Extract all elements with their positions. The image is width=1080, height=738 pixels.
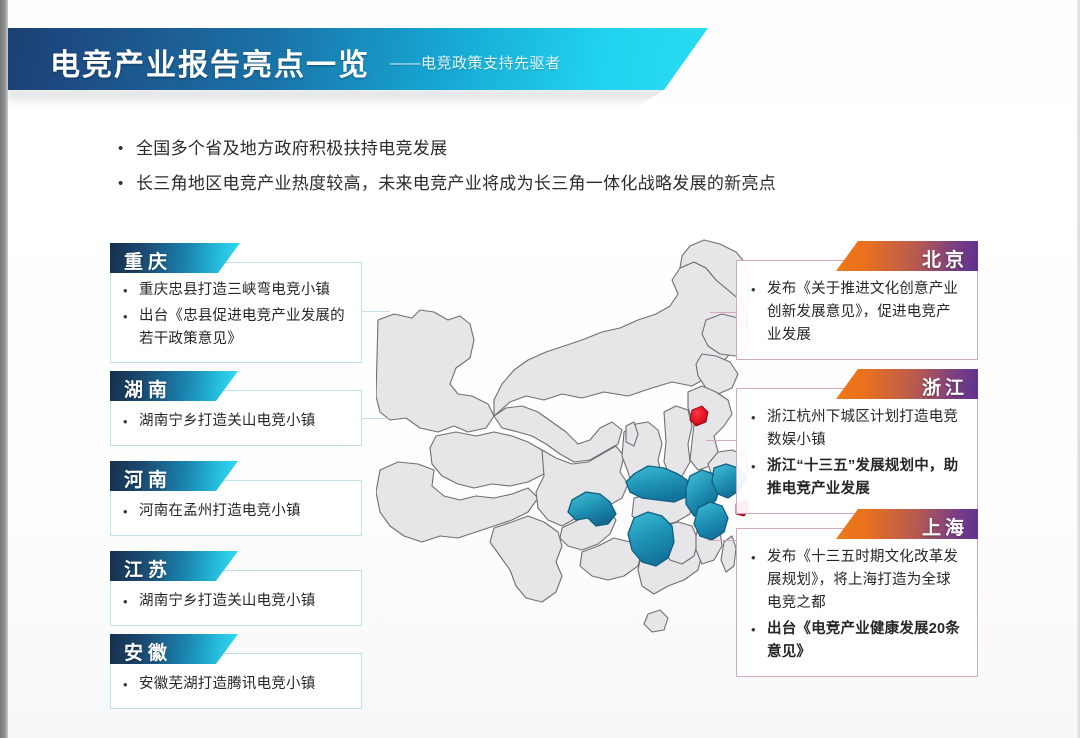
bullet-marker: • — [123, 500, 139, 523]
card-header-zhejiang: 浙江 — [836, 369, 978, 399]
list-item: • 湖南宁乡打造关山电竞小镇 — [123, 410, 351, 433]
card-header-anhui: 安徽 — [110, 634, 238, 664]
card-header-chongqing: 重庆 — [110, 243, 240, 273]
china-map — [376, 236, 748, 686]
list-item-label: 河南在孟州打造电竞小镇 — [139, 500, 301, 523]
list-item-label: 出台《电竞产业健康发展20条意见》 — [767, 618, 965, 664]
page-subtitle: ——电竞政策支持先驱者 — [390, 52, 561, 73]
highlight-province-zhejiang — [694, 502, 728, 540]
card-title-label: 上海 — [922, 513, 968, 540]
card-header-hunan: 湖南 — [110, 371, 238, 401]
card-item-list: • 浙江杭州下城区计划打造电竞数娱小镇 • 浙江“十三五”发展规划中，助推电竞产… — [737, 389, 977, 513]
list-item: • 安徽芜湖打造腾讯电竞小镇 — [123, 673, 351, 696]
province-qinghai — [430, 432, 552, 488]
bullet-marker: • — [751, 278, 767, 301]
slide-canvas: 电竞产业报告亮点一览 ——电竞政策支持先驱者 • 全国多个省及地方政府积极扶持电… — [0, 0, 1080, 738]
bullet-marker: • — [118, 173, 136, 195]
list-item-label: 安徽芜湖打造腾讯电竞小镇 — [139, 673, 315, 696]
province-hainan — [644, 610, 668, 632]
list-item: • 长三角地区电竞产业热度较高，未来电竞产业将成为长三角一体化战略发展的新亮点 — [118, 173, 998, 195]
connector-zhejiang — [706, 440, 736, 441]
card-item-list: • 重庆忠县打造三峡弯电竞小镇 • 出台《忠县促进电竞产业发展的若干政策意见》 — [111, 263, 361, 362]
list-item-label: 发布《关于推进文化创意产业创新发展意见》，促进电竞产业发展 — [767, 278, 965, 347]
card-item-list: • 发布《十三五时期文化改革发展规划》，将上海打造为全球电竞之都 • 出台《电竞… — [737, 529, 977, 676]
card-header-jiangsu: 江苏 — [110, 551, 238, 581]
list-item-label: 浙江杭州下城区计划打造电竞数娱小镇 — [767, 406, 965, 452]
connector-shanghai — [708, 540, 736, 541]
connector-beijing — [710, 312, 736, 313]
bullet-marker: • — [123, 410, 139, 433]
card-header-beijing: 北京 — [836, 241, 978, 271]
list-item-label: 重庆忠县打造三峡弯电竞小镇 — [139, 279, 330, 302]
bullet-marker: • — [751, 618, 767, 641]
card-header-henan: 河南 — [110, 461, 238, 491]
connector-hunan — [362, 418, 388, 419]
list-item: • 出台《忠县促进电竞产业发展的若干政策意见》 — [123, 305, 351, 351]
bullet-label: 全国多个省及地方政府积极扶持电竞发展 — [136, 138, 447, 160]
province-taiwan — [721, 536, 736, 572]
list-item: • 发布《十三五时期文化改革发展规划》，将上海打造为全球电竞之都 — [751, 546, 965, 615]
list-item-label: 浙江“十三五”发展规划中，助推电竞产业发展 — [767, 455, 965, 501]
list-item-label: 出台《忠县促进电竞产业发展的若干政策意见》 — [139, 305, 351, 351]
bullet-marker: • — [123, 305, 139, 328]
card-body: • 浙江杭州下城区计划打造电竞数娱小镇 • 浙江“十三五”发展规划中，助推电竞产… — [736, 388, 978, 514]
bullet-label: 长三角地区电竞产业热度较高，未来电竞产业将成为长三角一体化战略发展的新亮点 — [136, 173, 776, 195]
card-title-label: 江苏 — [124, 555, 172, 582]
china-map-svg — [376, 236, 748, 686]
card-title-label: 河南 — [124, 465, 172, 492]
card-body: • 重庆忠县打造三峡弯电竞小镇 • 出台《忠县促进电竞产业发展的若干政策意见》 — [110, 262, 362, 363]
list-item-label: 发布《十三五时期文化改革发展规划》，将上海打造为全球电竞之都 — [767, 546, 965, 615]
title-banner: 电竞产业报告亮点一览 ——电竞政策支持先驱者 — [8, 28, 708, 90]
bullet-marker: • — [751, 455, 767, 478]
card-title-label: 安徽 — [124, 638, 172, 665]
list-item: • 浙江“十三五”发展规划中，助推电竞产业发展 — [751, 455, 965, 501]
list-item-label: 湖南宁乡打造关山电竞小镇 — [139, 590, 315, 613]
card-header-shanghai: 上海 — [836, 509, 978, 539]
card-body: • 发布《十三五时期文化改革发展规划》，将上海打造为全球电竞之都 • 出台《电竞… — [736, 528, 978, 677]
banner-shadow — [8, 90, 708, 106]
list-item: • 湖南宁乡打造关山电竞小镇 — [123, 590, 351, 613]
bullet-marker: • — [123, 590, 139, 613]
connector-chongqing — [362, 311, 390, 312]
bullet-marker: • — [123, 279, 139, 302]
bullet-marker: • — [118, 138, 136, 160]
card-body: • 发布《关于推进文化创意产业创新发展意见》，促进电竞产业发展 — [736, 260, 978, 360]
province-yunnan — [490, 516, 562, 602]
list-item: • 浙江杭州下城区计划打造电竞数娱小镇 — [751, 406, 965, 452]
bullet-marker: • — [123, 673, 139, 696]
card-title-label: 湖南 — [124, 375, 172, 402]
card-item-list: • 发布《关于推进文化创意产业创新发展意见》，促进电竞产业发展 — [737, 261, 977, 359]
list-item: • 河南在孟州打造电竞小镇 — [123, 500, 351, 523]
card-title-label: 北京 — [922, 245, 968, 272]
list-item: • 重庆忠县打造三峡弯电竞小镇 — [123, 279, 351, 302]
list-item: • 发布《关于推进文化创意产业创新发展意见》，促进电竞产业发展 — [751, 278, 965, 347]
card-title-label: 重庆 — [124, 247, 172, 274]
bullet-marker: • — [751, 546, 767, 569]
list-item-label: 湖南宁乡打造关山电竞小镇 — [139, 410, 315, 433]
list-item: • 出台《电竞产业健康发展20条意见》 — [751, 618, 965, 664]
summary-bullet-list: • 全国多个省及地方政府积极扶持电竞发展 • 长三角地区电竞产业热度较高，未来电… — [118, 138, 998, 208]
bullet-marker: • — [751, 406, 767, 429]
page-title: 电竞产业报告亮点一览 — [50, 40, 370, 84]
list-item: • 全国多个省及地方政府积极扶持电竞发展 — [118, 138, 998, 160]
province-shanxi — [664, 406, 692, 476]
left-edge-strip — [0, 0, 8, 738]
card-title-label: 浙江 — [922, 373, 968, 400]
province-xinjiang — [376, 310, 494, 432]
